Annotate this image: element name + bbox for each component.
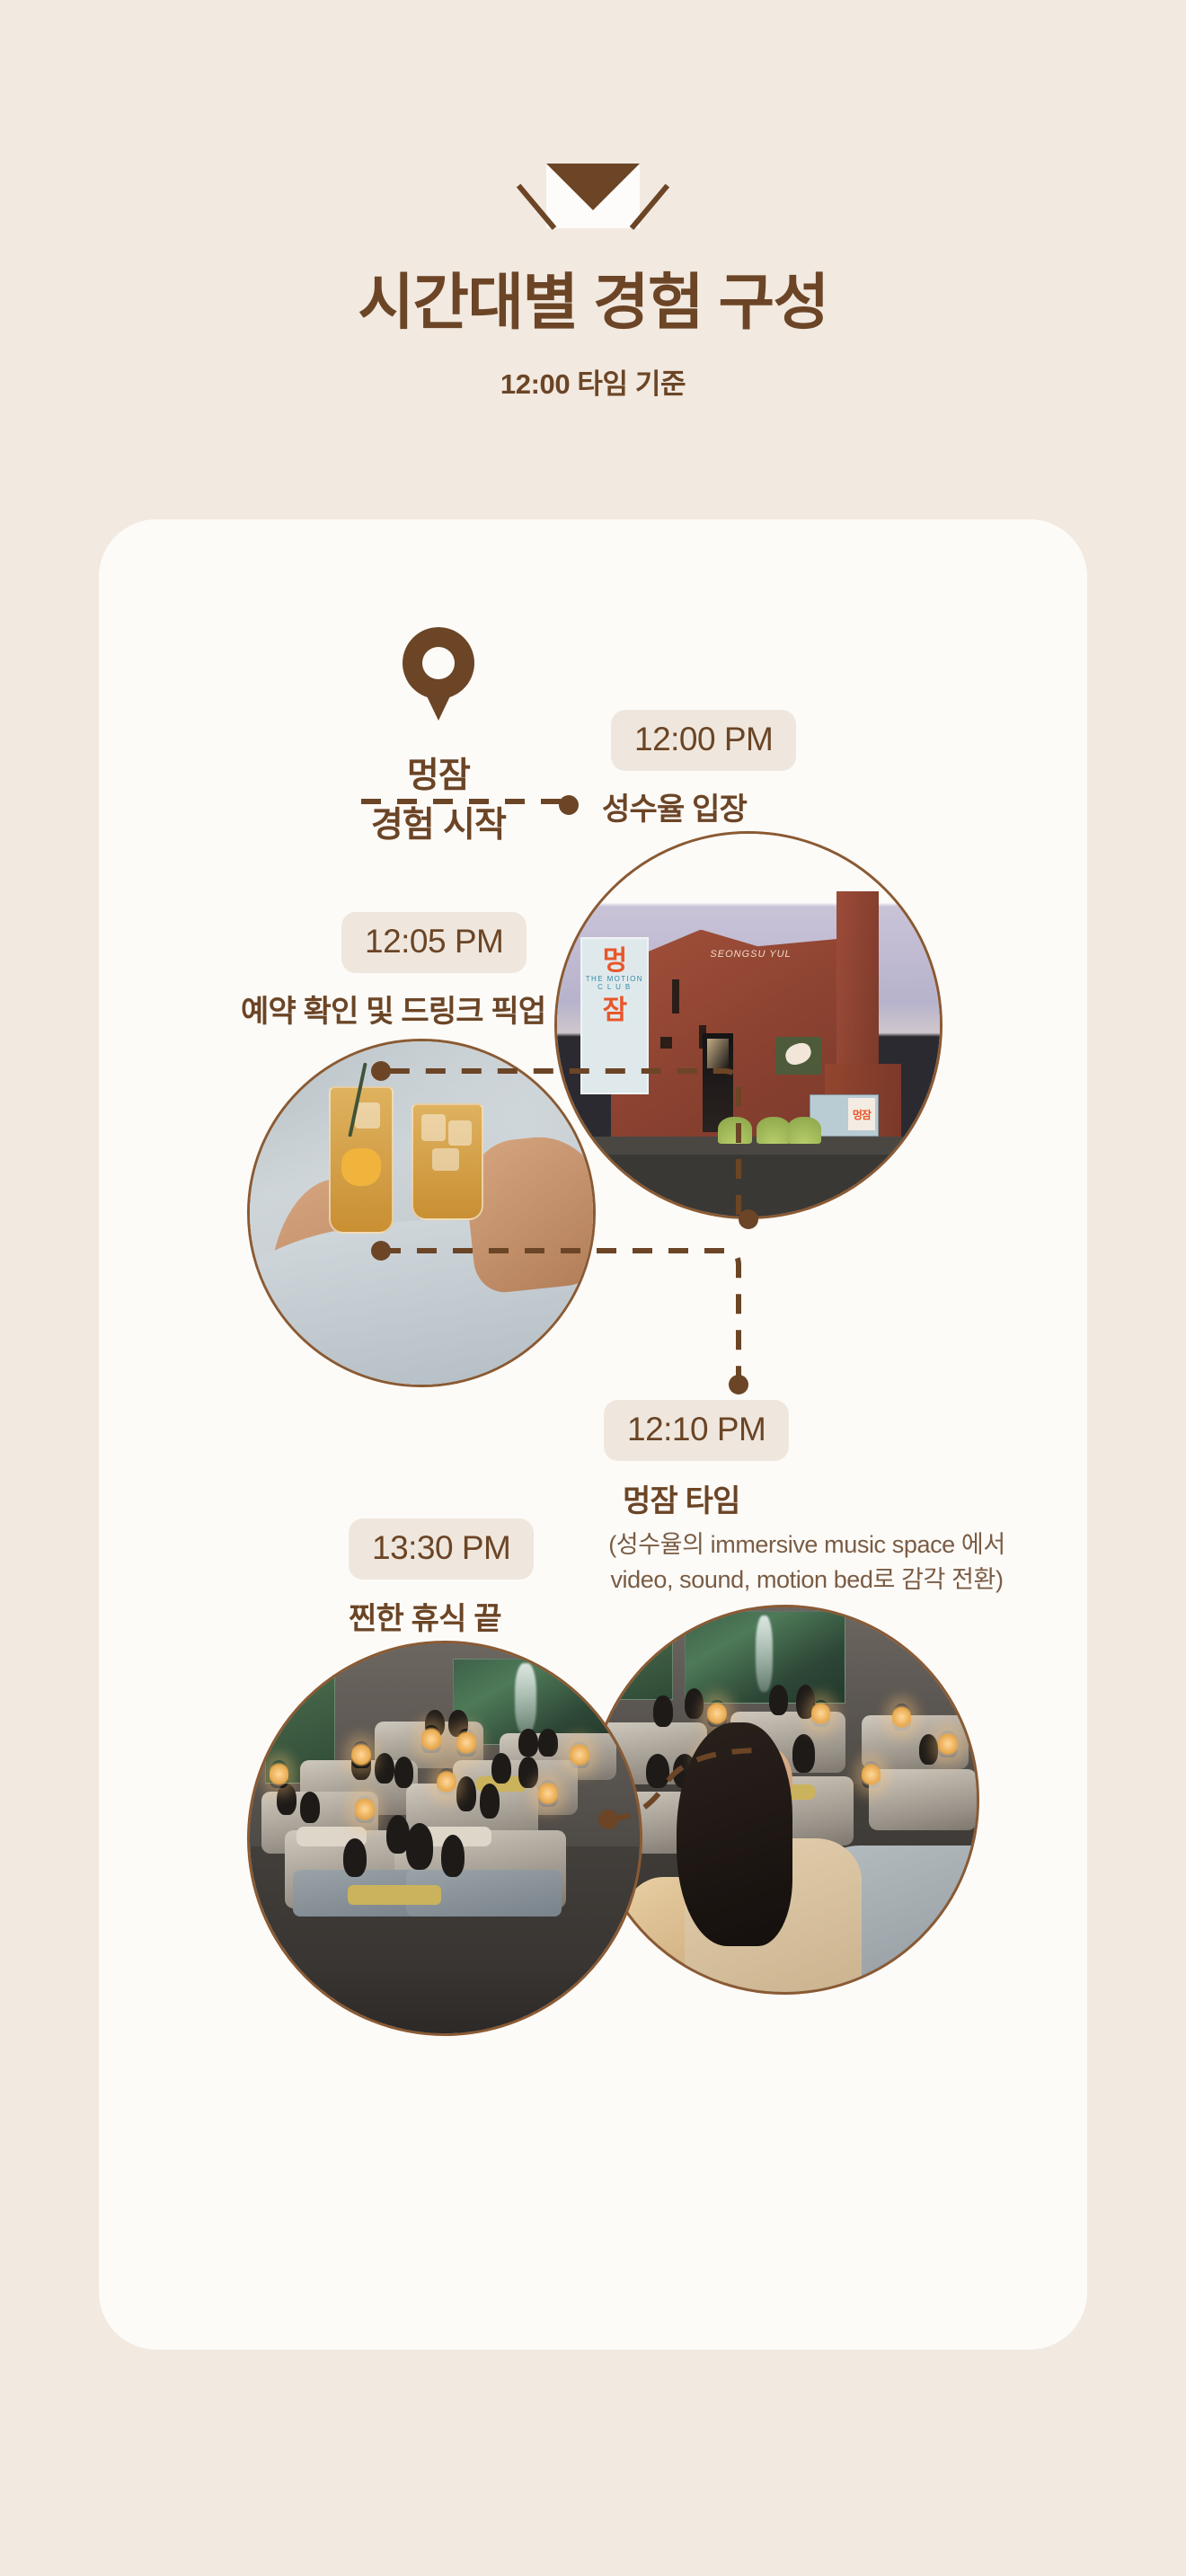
page-title: 시간대별 경험 구성 (0, 268, 1186, 338)
connector-start-to-step-1 (359, 796, 566, 807)
connector-step-1-to-step-2 (368, 1048, 755, 1227)
step-4-title: 찐한 휴식 끝 (349, 1594, 501, 1638)
banner-char-1: 멍 (582, 948, 648, 975)
step-4-photo (247, 1641, 642, 2036)
banner-char-2: 잠 (582, 997, 648, 1024)
shop-tag: 멍잠 (848, 1098, 875, 1130)
step-2-time-badge: 12:05 PM (341, 912, 527, 973)
step-3-time-badge: 12:10 PM (604, 1400, 789, 1461)
page-subtitle: 12:00 타임 기준 (0, 361, 1186, 402)
start-label-line1: 멍잠 (234, 751, 643, 801)
banner-subtitle-2: C L U B (582, 983, 648, 991)
page-header: 시간대별 경험 구성 12:00 타임 기준 (0, 0, 1186, 402)
connector-step-3-to-step-4 (602, 1732, 773, 1831)
step-3-title: 멍잠 타임 (623, 1476, 740, 1520)
step-2-photo-anchor-dot (371, 1061, 391, 1081)
building-wordmark: SEONGSU YUL (710, 949, 791, 960)
envelope-flap (546, 164, 640, 210)
step-3-description: (성수율의 immersive music space 에서 video, so… (537, 1527, 1076, 1598)
timeline-card: 멍잠 경험 시작 12:00 PM 성수율 입장 SEONGSU YUL 멍 T… (99, 519, 1087, 2350)
envelope-icon (546, 164, 640, 228)
step-2-photo-exit-dot (371, 1241, 391, 1261)
step-4-photo-anchor-dot (598, 1810, 618, 1829)
map-pin-icon (403, 627, 474, 721)
step-1-time-badge: 12:00 PM (611, 710, 796, 771)
banner-subtitle-1: THE MOTION (582, 975, 648, 983)
step-2-title: 예약 확인 및 드링크 픽업 (241, 987, 545, 1031)
step-3-anchor-dot (729, 1375, 748, 1394)
step-1-title: 성수율 입장 (602, 784, 747, 828)
connector-step-2-to-step-3 (368, 1238, 755, 1400)
step-4-time-badge: 13:30 PM (349, 1518, 534, 1580)
